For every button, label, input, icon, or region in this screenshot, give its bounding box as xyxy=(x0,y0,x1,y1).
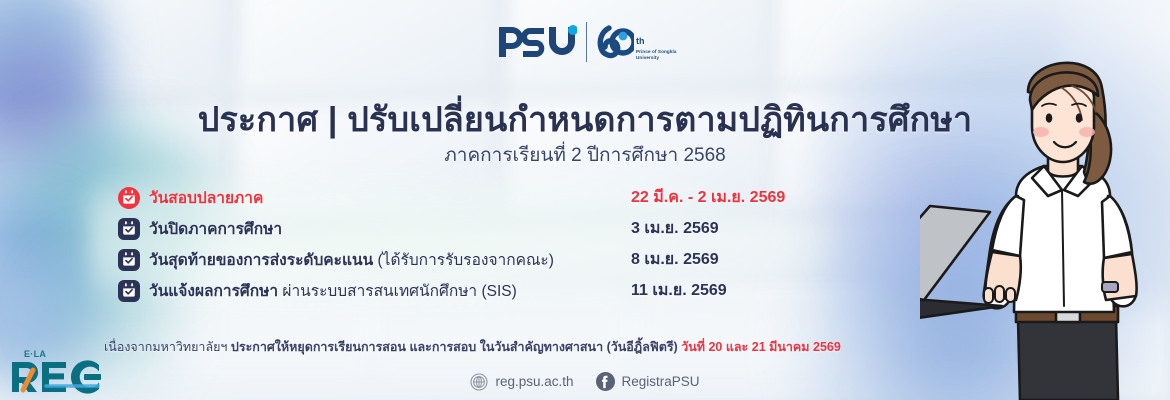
reg-wordmark-icon xyxy=(10,360,102,394)
anniversary-suffix: th xyxy=(636,37,677,46)
table-row: วันสุดท้ายของการส่งระดับคะแนน (ได้รับการ… xyxy=(118,244,818,275)
calendar-check-icon xyxy=(118,280,140,302)
logo-divider xyxy=(586,22,587,62)
table-row: วันสอบปลายภาค 22 มี.ค. - 2 เม.ย. 2569 xyxy=(118,182,818,213)
facebook-icon xyxy=(596,372,615,391)
reg-logo: E·LA xyxy=(10,350,102,399)
reg-logo-small-text: E·LA xyxy=(24,350,102,359)
page-title: ประกาศ | ปรับเปลี่ยนกำหนดการตามปฏิทินการ… xyxy=(0,92,1170,146)
table-row: วันปิดภาคการศึกษา 3 เม.ย. 2569 xyxy=(118,213,818,244)
schedule-row-date: 3 เม.ย. 2569 xyxy=(631,216,719,241)
facebook-label: RegistraPSU xyxy=(622,374,700,389)
schedule-row-label: วันสอบปลายภาค xyxy=(149,185,631,210)
schedule-row-label: วันแจ้งผลการศึกษา ผ่านระบบสารสนเทศนักศึก… xyxy=(149,278,631,303)
website-label: reg.psu.ac.th xyxy=(495,374,573,389)
calendar-check-icon xyxy=(118,249,140,271)
website-link[interactable]: reg.psu.ac.th xyxy=(470,373,573,391)
facebook-link[interactable]: RegistraPSU xyxy=(596,372,700,391)
page-subtitle: ภาคการเรียนที่ 2 ปีการศึกษา 2568 xyxy=(0,140,1170,170)
schedule-row-label: วันสุดท้ายของการส่งระดับคะแนน (ได้รับการ… xyxy=(149,247,631,272)
schedule-row-date: 22 มี.ค. - 2 เม.ย. 2569 xyxy=(631,185,785,210)
psu-wordmark-icon xyxy=(497,23,577,61)
schedule-row-date: 8 เม.ย. 2569 xyxy=(631,247,719,272)
schedule-list: วันสอบปลายภาค 22 มี.ค. - 2 เม.ย. 2569 วั… xyxy=(118,182,818,306)
schedule-row-label: วันปิดภาคการศึกษา xyxy=(149,216,631,241)
footnote: เนื่องจากมหาวิทยาลัยฯ ประกาศให้หยุดการเร… xyxy=(104,337,841,357)
calendar-check-icon xyxy=(118,218,140,240)
footnote-dates: วันที่ 20 และ 21 มีนาคม 2569 xyxy=(678,340,841,354)
sixty-numeral-icon xyxy=(596,23,634,61)
contact-bar: reg.psu.ac.th RegistraPSU xyxy=(0,372,1170,391)
footnote-strong: ประกาศให้หยุดการเรียนการสอน และการสอบ ใน… xyxy=(231,340,678,354)
globe-icon xyxy=(470,373,488,391)
anniversary-line-2: University xyxy=(636,55,677,61)
footnote-lead: เนื่องจากมหาวิทยาลัยฯ xyxy=(104,340,231,354)
psu-logo: th Prince of Songkla University xyxy=(497,22,677,62)
announcement-banner: th Prince of Songkla University ประกาศ |… xyxy=(0,0,1170,400)
student-with-laptop-illustration xyxy=(920,0,1170,400)
table-row: วันแจ้งผลการศึกษา ผ่านระบบสารสนเทศนักศึก… xyxy=(118,275,818,306)
calendar-check-icon xyxy=(118,187,140,209)
60th-anniversary-mark: th Prince of Songkla University xyxy=(596,23,677,61)
schedule-row-date: 11 เม.ย. 2569 xyxy=(631,278,727,303)
